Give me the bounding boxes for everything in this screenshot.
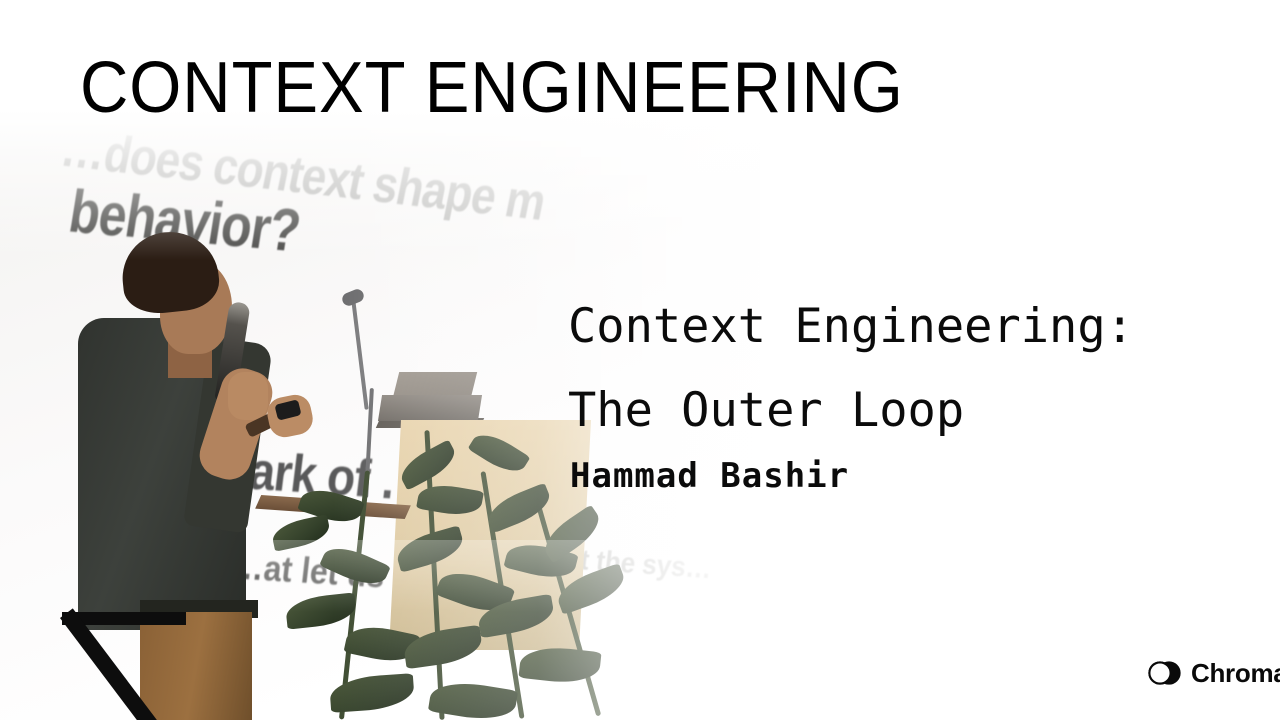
presentation-title-slide: …does context shape m behavior? …ark of … <box>0 0 1280 720</box>
presenter-name: Hammad Bashir <box>570 456 849 496</box>
chroma-wordmark: Chroma <box>1191 660 1280 686</box>
title-block: Context Engineering: The Outer Loop <box>568 285 1268 453</box>
title-line-2: The Outer Loop <box>568 369 1268 453</box>
page-title: CONTEXT ENGINEERING <box>80 52 904 124</box>
chroma-logo: Chroma <box>1148 660 1280 686</box>
title-line-1: Context Engineering: <box>568 285 1268 369</box>
photo-top-fade <box>0 0 1280 260</box>
chroma-mark-icon <box>1148 660 1182 686</box>
